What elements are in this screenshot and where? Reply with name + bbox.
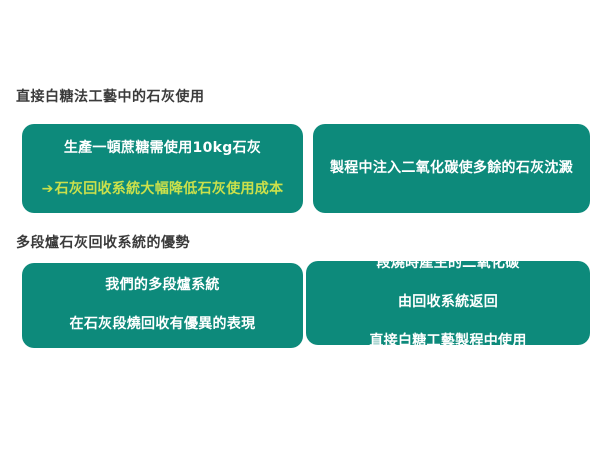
card-furnace-performance: 我們的多段爐系統 在石灰段燒回收有優異的表現 <box>22 263 303 348</box>
card-co2-injection: 製程中注入二氧化碳使多餘的石灰沈澱 <box>313 124 590 213</box>
card-lime-usage-line-2-label: 石灰回收系統大幅降低石灰使用成本 <box>55 181 284 197</box>
section-heading-lime-usage: 直接白糖法工藝中的石灰使用 <box>16 90 205 104</box>
card-furnace-performance-line-1: 我們的多段爐系統 <box>70 276 256 296</box>
card-furnace-performance-line-2: 在石灰段燒回收有優異的表現 <box>70 315 256 335</box>
card-co2-injection-line-1: 製程中注入二氧化碳使多餘的石灰沈澱 <box>330 158 573 178</box>
arrow-right-icon: ➔ <box>42 181 54 197</box>
card-co2-return-text: 段燒時產生的二氧化碳 由回收系統返回 直接白糖工藝製程中使用 <box>369 234 526 371</box>
card-lime-usage-line-1: 生產一頓蔗糖需使用10kg石灰 <box>42 138 284 158</box>
card-co2-injection-text: 製程中注入二氧化碳使多餘的石灰沈澱 <box>330 138 573 199</box>
section-heading-furnace-advantages: 多段爐石灰回收系統的優勢 <box>16 236 190 250</box>
card-lime-usage-text: 生產一頓蔗糖需使用10kg石灰 ➔石灰回收系統大幅降低石灰使用成本 <box>42 118 284 219</box>
card-furnace-performance-text: 我們的多段爐系統 在石灰段燒回收有優異的表現 <box>70 257 256 355</box>
card-co2-return: 段燒時產生的二氧化碳 由回收系統返回 直接白糖工藝製程中使用 <box>306 261 590 345</box>
card-lime-usage: 生產一頓蔗糖需使用10kg石灰 ➔石灰回收系統大幅降低石灰使用成本 <box>22 124 303 213</box>
card-co2-return-line-2: 由回收系統返回 <box>369 293 526 313</box>
card-co2-return-line-3: 直接白糖工藝製程中使用 <box>369 332 526 352</box>
slide-canvas: 直接白糖法工藝中的石灰使用 生產一頓蔗糖需使用10kg石灰 ➔石灰回收系統大幅降… <box>0 0 600 450</box>
card-co2-return-line-1: 段燒時產生的二氧化碳 <box>369 254 526 274</box>
card-lime-usage-line-2: ➔石灰回收系統大幅降低石灰使用成本 <box>42 179 284 199</box>
